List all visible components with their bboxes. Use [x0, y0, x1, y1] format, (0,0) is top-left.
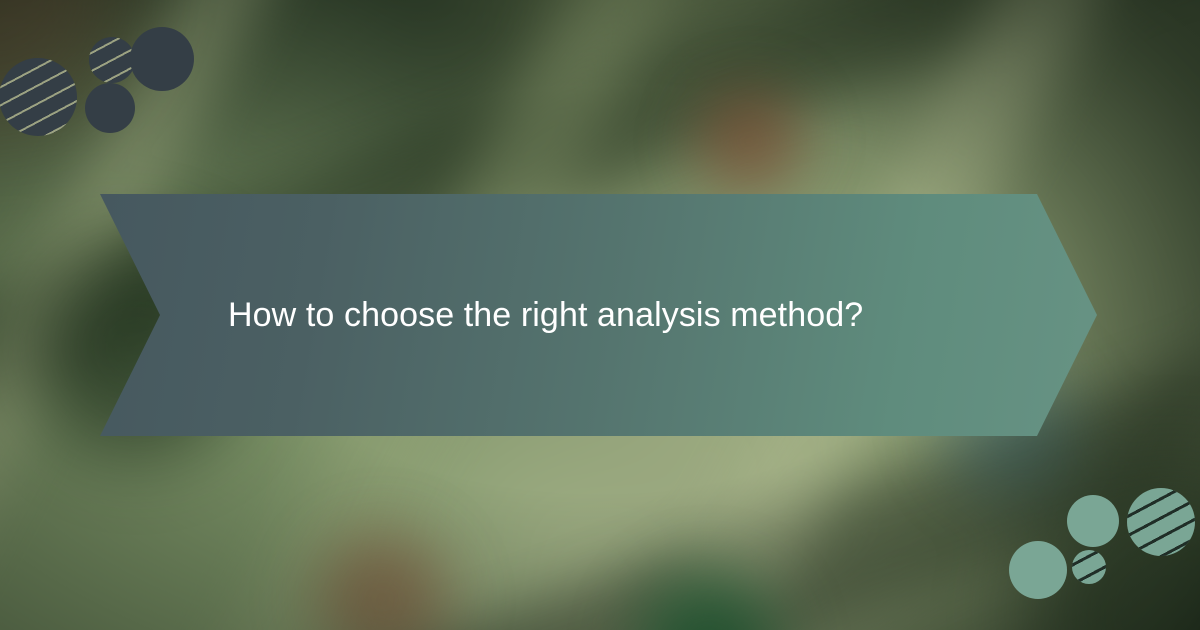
- circle-small-striped: [89, 37, 135, 83]
- circle-large-striped: [1127, 488, 1195, 556]
- circle-large-striped: [0, 58, 77, 136]
- circle-medium-solid: [85, 83, 135, 133]
- title-banner: How to choose the right analysis method?: [100, 194, 1097, 436]
- circle-medium-solid-upper: [1067, 495, 1119, 547]
- circle-medium-solid: [1009, 541, 1067, 599]
- banner-title: How to choose the right analysis method?: [100, 294, 863, 337]
- social-card: How to choose the right analysis method?: [0, 0, 1200, 630]
- circle-small-striped: [1072, 550, 1106, 584]
- circle-large-solid: [130, 27, 194, 91]
